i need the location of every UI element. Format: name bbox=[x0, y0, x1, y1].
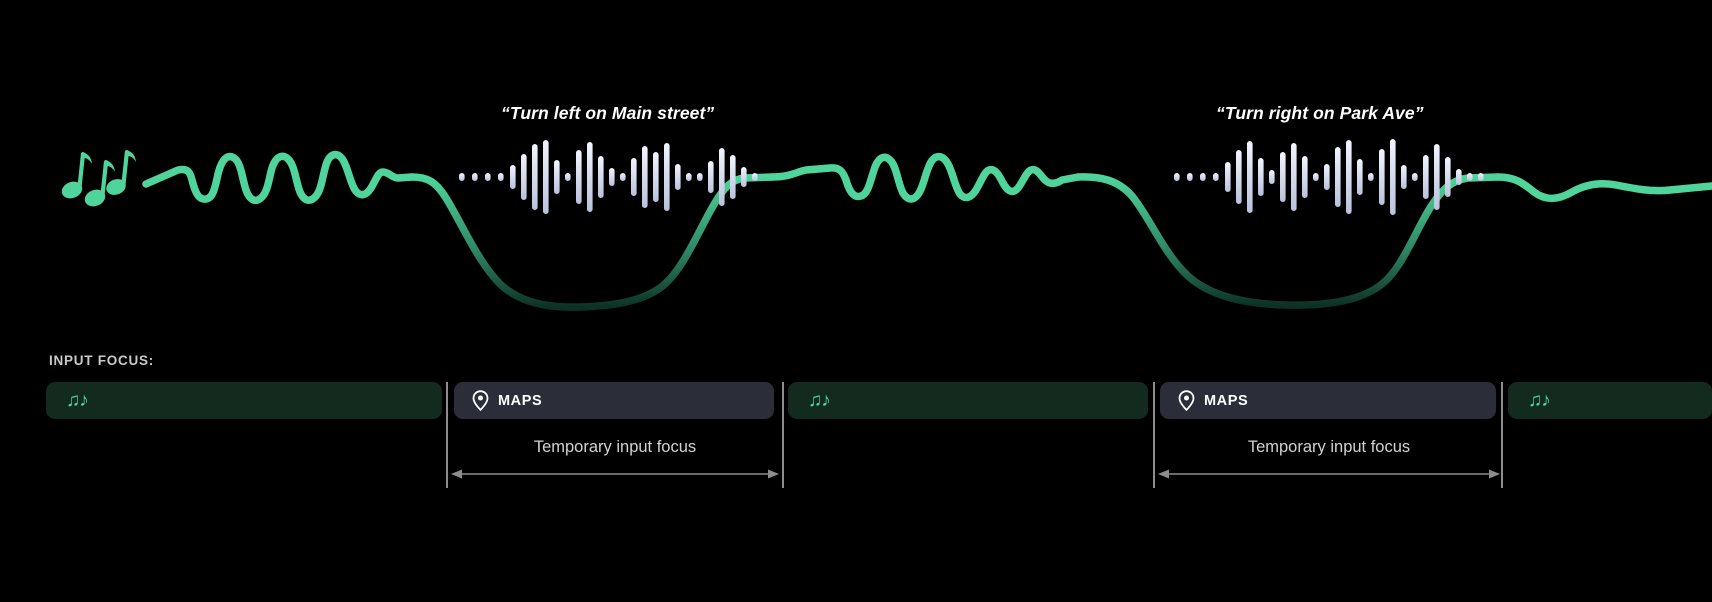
waveform-region: “Turn left on Main street” “Turn right o… bbox=[0, 0, 1712, 340]
location-pin-icon bbox=[1178, 390, 1195, 411]
focus-chip-music-2[interactable]: ♫♪ bbox=[788, 382, 1148, 419]
music-note-icon bbox=[59, 150, 136, 209]
focus-chip-music-1[interactable]: ♫♪ bbox=[46, 382, 442, 419]
temporary-focus-caption: Temporary input focus bbox=[1155, 438, 1503, 457]
music-note-icon: ♫♪ bbox=[808, 391, 830, 410]
scene-root: “Turn left on Main street” “Turn right o… bbox=[0, 0, 1712, 602]
waveform-canvas bbox=[0, 0, 1712, 340]
focus-chip-music-3[interactable]: ♫♪ bbox=[1508, 382, 1712, 419]
music-stream-line bbox=[146, 155, 1712, 308]
speech-caption-2: “Turn right on Park Ave” bbox=[1216, 103, 1424, 124]
segment-divider-2 bbox=[782, 382, 784, 488]
input-focus-track: ♫♪ MAPS ♫♪ MAPS bbox=[0, 382, 1712, 602]
music-active-segment-1 bbox=[146, 155, 412, 201]
music-note-icon: ♫♪ bbox=[66, 391, 88, 410]
music-note-icon: ♫♪ bbox=[1528, 391, 1550, 410]
focus-chip-maps-1[interactable]: MAPS bbox=[454, 382, 774, 419]
focus-chip-label: MAPS bbox=[498, 393, 542, 409]
input-focus-label: INPUT FOCUS: bbox=[49, 353, 154, 368]
music-active-segment-3 bbox=[1498, 177, 1712, 198]
speech-caption-1: “Turn left on Main street” bbox=[501, 103, 714, 124]
speech-bars-burst-2 bbox=[1174, 139, 1484, 215]
span-double-arrow bbox=[1155, 463, 1503, 485]
focus-chip-label: MAPS bbox=[1204, 393, 1248, 409]
focus-chip-maps-2[interactable]: MAPS bbox=[1160, 382, 1496, 419]
location-pin-icon bbox=[472, 390, 489, 411]
temporary-focus-caption: Temporary input focus bbox=[448, 438, 782, 457]
music-active-segment-2 bbox=[772, 157, 1078, 199]
span-double-arrow bbox=[448, 463, 782, 485]
